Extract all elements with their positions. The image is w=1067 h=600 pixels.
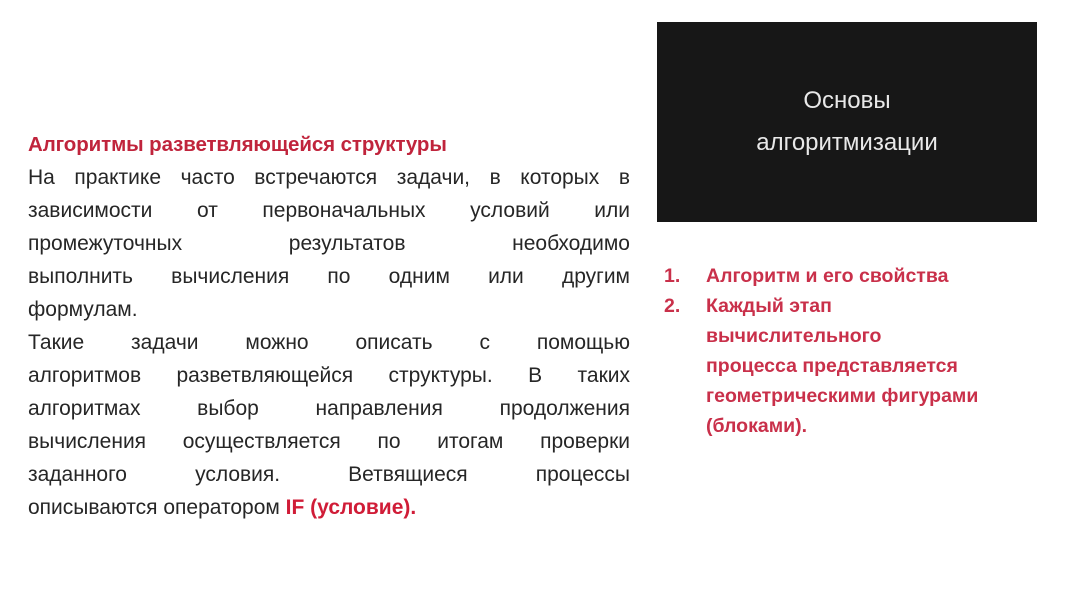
left-text-column: Алгоритмы разветвляющейся структуры На п… — [28, 128, 630, 524]
topic-text-line: Каждый этап — [706, 291, 1034, 321]
paragraph-branching-line-4: вычисления осуществляется по итогам пров… — [28, 425, 630, 458]
topic-text-line: Алгоритм и его свойства — [706, 261, 1034, 291]
topic-text: Каждый этап вычислительного процесса пре… — [706, 291, 1034, 441]
title-box: Основы алгоритмизации — [657, 22, 1037, 222]
topic-text-line: вычислительного — [706, 321, 1034, 351]
paragraph-intro-line-4: выполнить вычисления по одним или другим — [28, 260, 630, 293]
section-heading: Алгоритмы разветвляющейся структуры — [28, 128, 630, 161]
topic-text-line: (блоками). — [706, 411, 1034, 441]
paragraph-intro-line-3: промежуточных результатов необходимо — [28, 227, 630, 260]
list-item[interactable]: 1. Алгоритм и его свойства — [664, 261, 1034, 291]
paragraph-branching-line-5: заданного условия. Ветвящиеся процессы — [28, 458, 630, 491]
if-operator-accent: IF (условие). — [286, 496, 417, 519]
operator-sentence-prefix: описываются оператором — [28, 496, 286, 519]
paragraph-branching-line-3: алгоритмах выбор направления продолжения — [28, 392, 630, 425]
topic-text-line: геометрическими фигурами — [706, 381, 1034, 411]
topic-text: Алгоритм и его свойства — [706, 261, 1034, 291]
paragraph-branching-line-6: описываются оператором IF (условие). — [28, 491, 630, 524]
paragraph-branching-line-2: алгоритмов разветвляющейся структуры. В … — [28, 359, 630, 392]
paragraph-intro: На практике часто встречаются задачи, в … — [28, 161, 630, 326]
list-item[interactable]: 2. Каждый этап вычислительного процесса … — [664, 291, 1034, 441]
paragraph-branching-line-1: Такие задачи можно описать с помощью — [28, 326, 630, 359]
paragraph-intro-line-5: формулам. — [28, 293, 630, 326]
title-box-text: Основы алгоритмизации — [726, 80, 968, 164]
title-line-2: алгоритмизации — [756, 122, 938, 164]
slide-canvas: Алгоритмы разветвляющейся структуры На п… — [0, 0, 1067, 600]
topic-list: 1. Алгоритм и его свойства 2. Каждый эта… — [664, 261, 1034, 441]
paragraph-branching: Такие задачи можно описать с помощью алг… — [28, 326, 630, 524]
topic-number: 2. — [664, 291, 706, 321]
topic-number: 1. — [664, 261, 706, 291]
paragraph-intro-line-1: На практике часто встречаются задачи, в … — [28, 161, 630, 194]
topic-text-line: процесса представляется — [706, 351, 1034, 381]
title-line-1: Основы — [756, 80, 938, 122]
paragraph-intro-line-2: зависимости от первоначальных условий ил… — [28, 194, 630, 227]
